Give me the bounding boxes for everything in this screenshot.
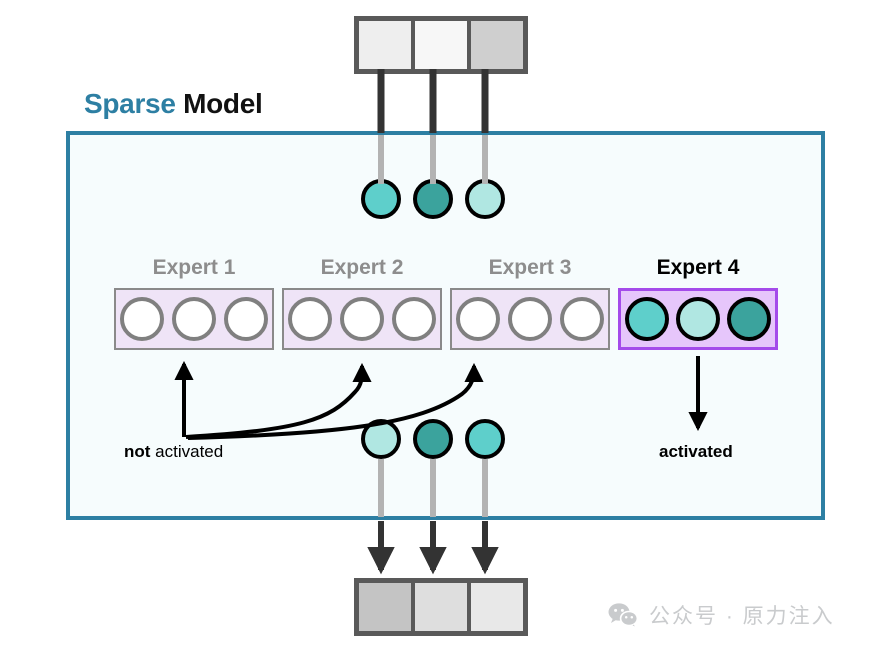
activated-label: activated xyxy=(659,442,733,462)
expert-label-1: Expert 1 xyxy=(114,256,274,280)
not-activated-rest: activated xyxy=(150,442,223,461)
input-token-3 xyxy=(471,21,523,69)
expert-1-unit-2 xyxy=(172,297,216,341)
top-neuron-2 xyxy=(413,179,453,219)
output-token-1 xyxy=(359,583,411,631)
diagram-stage: Sparse Model Expert 1 Expert 2 Expert 3 … xyxy=(0,0,880,656)
expert-box-2[interactable] xyxy=(282,288,442,350)
expert-1-unit-3 xyxy=(224,297,268,341)
expert-3-unit-3 xyxy=(560,297,604,341)
output-token-2 xyxy=(415,583,467,631)
page-title: Sparse Model xyxy=(84,88,262,120)
input-stems-outer xyxy=(381,69,485,133)
input-token-1 xyxy=(359,21,411,69)
input-token-strip xyxy=(354,16,528,74)
watermark-text: 公众号 · 原力注入 xyxy=(649,600,835,630)
expert-4-unit-2 xyxy=(676,297,720,341)
expert-box-1[interactable] xyxy=(114,288,274,350)
not-activated-label: not activated xyxy=(124,442,223,462)
title-keyword: Sparse xyxy=(84,88,176,119)
expert-2-unit-2 xyxy=(340,297,384,341)
expert-4-unit-3 xyxy=(727,297,771,341)
top-neuron-1 xyxy=(361,179,401,219)
bottom-neuron-1 xyxy=(361,419,401,459)
output-token-3 xyxy=(471,583,523,631)
title-rest: Model xyxy=(176,88,263,119)
output-arrows xyxy=(381,521,485,570)
expert-3-unit-1 xyxy=(456,297,500,341)
expert-4-unit-1 xyxy=(625,297,669,341)
expert-label-3: Expert 3 xyxy=(450,256,610,280)
expert-label-2: Expert 2 xyxy=(282,256,442,280)
expert-label-4: Expert 4 xyxy=(618,256,778,280)
expert-box-4[interactable] xyxy=(618,288,778,350)
not-activated-bold: not xyxy=(124,442,150,461)
bottom-neuron-2 xyxy=(413,419,453,459)
expert-1-unit-1 xyxy=(120,297,164,341)
wechat-icon xyxy=(608,603,638,627)
top-neuron-3 xyxy=(465,179,505,219)
input-token-2 xyxy=(415,21,467,69)
expert-box-3[interactable] xyxy=(450,288,610,350)
expert-2-unit-1 xyxy=(288,297,332,341)
expert-3-unit-2 xyxy=(508,297,552,341)
bottom-neuron-3 xyxy=(465,419,505,459)
expert-2-unit-3 xyxy=(392,297,436,341)
output-token-strip xyxy=(354,578,528,636)
watermark: 公众号 · 原力注入 xyxy=(608,600,835,630)
